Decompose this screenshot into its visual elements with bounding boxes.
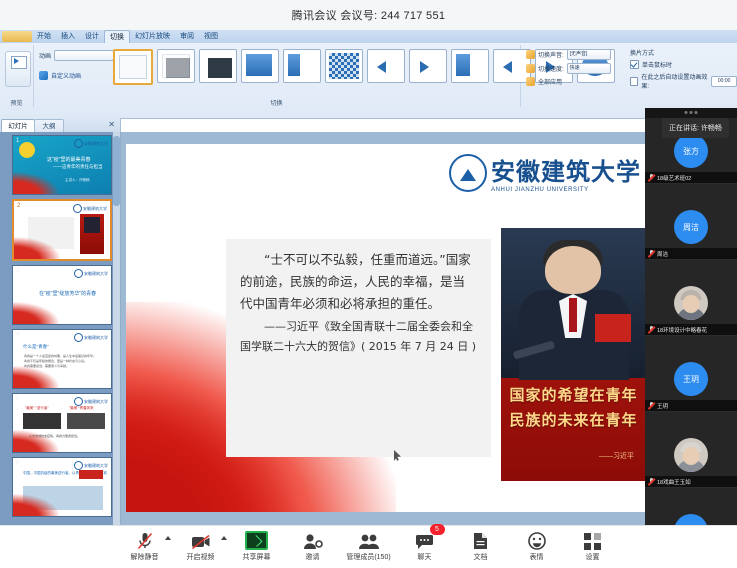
powerpoint-window: 开始 插入 设计 切换 幻灯片放映 审阅 视图 预览 动画 [0,30,737,525]
anim-dropdown-label: 动画 [39,51,51,60]
ribbon-tab-3[interactable]: 切换 [104,30,130,44]
advance-on-click-row[interactable]: 单击鼠标时 [630,60,737,69]
share-screen-icon [245,532,268,550]
ribbon-group-timing: 切换声音: [无声音] 切换速度: 快速 全部应用 换片方式 单击鼠标时 [520,45,737,107]
apply-all-button[interactable]: 全部应用 [526,77,562,86]
advance-on-click-checkbox[interactable] [630,60,639,69]
participant-name: 18级艺术班02 [657,174,691,182]
thumbnail-number: 3 [16,268,19,274]
emoji-icon [528,532,546,550]
toolbar-item-unmute[interactable]: 解除静音 [117,526,173,568]
transition-tile-dissolve[interactable] [325,49,363,83]
mic-off-icon [648,402,655,409]
advance-slide-title: 换片方式 [630,48,737,57]
participant-name-bar: 周洁 [645,248,737,259]
ribbon-tab-6[interactable]: 视图 [199,30,223,43]
transition-group-label: 切换 [33,98,520,107]
thumbnail-logo: 安徽建筑大学 [74,397,108,406]
avatar-initials: 周洁 [683,222,699,233]
transition-sound-row[interactable]: 切换声音: [无声音] [526,49,611,60]
video-menu-caret-icon[interactable] [221,536,227,540]
transition-tile-cut-left[interactable] [367,49,405,83]
avatar-initials: 张方 [683,146,699,157]
toolbar-item-emoji[interactable]: 表情 [509,526,565,568]
ribbon-tab-1[interactable]: 插入 [56,30,80,43]
thumbnail-logo: 安徽建筑大学 [74,333,108,342]
thumbnail-scrollbar-thumb[interactable] [113,136,120,206]
thumbnail-number: 6 [16,460,19,466]
transition-sound-label: 切换声音: [538,50,564,59]
invite-icon [303,532,323,550]
tab-outline[interactable]: 大纲 [34,119,64,133]
poster-photo [501,228,646,378]
ribbon-tab-strip: 开始 插入 设计 切换 幻灯片放映 审阅 视图 [0,30,737,43]
thumbnail-logo: 安徽建筑大学 [74,269,108,278]
transition-tile-cover-right[interactable] [409,49,447,83]
transition-speed-label: 切换速度: [538,64,564,73]
toolbar-item-invite[interactable]: 邀请 [285,526,341,568]
tab-slides[interactable]: 幻灯片 [1,119,35,133]
thumbnail-number: 5 [16,396,19,402]
poster-line-1: 国家的希望在青年 [501,383,646,408]
university-logo: 安徽建筑大学 ANHUI JIANZHU UNIVERSITY [449,152,641,193]
toolbar-item-share-screen[interactable]: 共享屏幕 [229,526,285,568]
video-panel-drag-handle[interactable] [645,108,737,118]
thumbnail-logo: 安徽建筑大学 [73,204,107,213]
advance-auto-time-input[interactable]: 00:00 [711,76,737,87]
settings-grid-icon [584,532,601,550]
close-pane-icon[interactable]: ✕ [108,120,115,129]
apply-all-label: 全部应用 [538,77,562,86]
poster-text-block: 国家的希望在青年 民族的未来在青年 ——习近平 [501,383,646,461]
custom-animation-button[interactable]: 自定义动画 [39,71,81,80]
toolbar-label: 邀请 [306,552,320,562]
mic-off-icon [137,532,153,550]
meeting-app-root: 腾讯会议 会议号: 244 717 551 开始 插入 设计 切换 幻灯片放映 … [0,0,737,567]
toolbar-item-start-video[interactable]: 开启视频 [173,526,229,568]
quick-access-toolbar[interactable] [2,31,32,42]
avatar-initials: 王玥 [683,374,699,385]
transition-sound-select[interactable]: [无声音] [567,49,611,60]
thumbnail-logo: 安徽建筑大学 [74,461,108,470]
advance-auto-label: 在此之后自动设置动画效果: [641,72,708,90]
thumbnail-slide-6[interactable]: 6 安徽建筑大学 中国，中国抗疫的最美逆行者，以青春之名，勇往直前 [12,457,112,517]
poster-signature: ——习近平 [501,451,646,461]
toolbar-item-manage-members[interactable]: 管理成员(150) [341,526,397,568]
participant-name: 18环境设计中略春花 [657,326,707,334]
advance-auto-row[interactable]: 在此之后自动设置动画效果: 00:00 [630,72,737,90]
poster-line-2: 民族的未来在青年 [501,408,646,433]
toolbar-label: 表情 [530,552,544,562]
slide-thumbnail-list[interactable]: 1 安徽建筑大学 这"疫"里的最美青春 ——这青年的责任与担当 主讲人：许畅畅 … [0,132,121,525]
transition-tile-none[interactable] [113,49,153,85]
transition-tile-uncover[interactable] [451,49,489,83]
toolbar-label: 文档 [474,552,488,562]
preview-group-label: 预览 [0,98,33,107]
ribbon-group-transition: 动画 自定义动画 [33,45,521,107]
transition-tile-push[interactable] [199,49,237,83]
speaking-tooltip: 正在讲话: 许畅畅 [662,118,729,138]
toolbar-item-chat[interactable]: 5 聊天 [397,526,453,568]
university-name-cn: 安徽建筑大学 [491,152,641,187]
thumbnail-logo: 安徽建筑大学 [74,139,108,148]
document-icon [473,532,488,550]
custom-animation-label: 自定义动画 [51,71,81,80]
transition-tile-wipe[interactable] [241,49,279,83]
transition-tile-fade[interactable] [157,49,195,83]
toolbar-label: 管理成员(150) [346,552,390,562]
preview-button[interactable] [5,51,31,87]
thumbnail-number: 1 [16,138,19,144]
transition-speed-row[interactable]: 切换速度: 快速 [526,63,611,74]
mic-menu-caret-icon[interactable] [165,536,171,540]
avatar: 张方 [674,134,708,168]
participant-name-bar: 18级艺术班02 [645,172,737,183]
current-slide[interactable]: 安徽建筑大学 ANHUI JIANZHU UNIVERSITY “士不可以不弘毅… [126,144,651,512]
quote-card: “士不可以不弘毅，任重而道远。”国家的前途，民族的命运，人民的幸福，是当代中国青… [226,239,491,457]
video-tile-3[interactable]: 王玥 王玥 [645,336,737,412]
avatar: 周洁 [674,210,708,244]
quote-text: “士不可以不弘毅，任重而道远。”国家的前途，民族的命运，人民的幸福，是当代中国青… [240,249,477,315]
advance-auto-checkbox[interactable] [630,77,638,86]
toolbar-item-settings[interactable]: 设置 [565,526,621,568]
toolbar-label: 解除静音 [131,552,159,562]
video-tile-4[interactable]: 18戏曲王玉如 [645,412,737,488]
ribbon-tab-0[interactable]: 开始 [32,30,56,43]
drag-dots-icon [685,111,698,114]
thumbnail-scrollbar[interactable] [113,132,120,525]
meeting-toolbar: 解除静音 开启视频 共享屏幕 邀请 管理成员(150) [0,525,737,568]
video-tile-2[interactable]: 18环境设计中略春花 [645,260,737,336]
thumbnail-slide-5[interactable]: 5 安徽建筑大学 "最美"·"逆行者" "最美"·青春风采 众志成城抗击疫情，青… [12,393,112,453]
poster-image: 国家的希望在青年 民族的未来在青年 ——习近平 [501,228,646,481]
mic-off-icon [648,250,655,257]
participant-name-bar: 18戏曲王玉如 [645,476,737,487]
participant-name-bar: 王玥 [645,400,737,411]
custom-animation-icon [39,71,48,80]
toolbar-item-document[interactable]: 文档 [453,526,509,568]
participant-name: 周洁 [657,250,668,258]
ribbon-tab-4[interactable]: 幻灯片放映 [130,30,175,43]
participant-name: 王玥 [657,402,668,410]
mic-off-icon [648,326,655,333]
chat-icon [415,532,435,550]
university-name-en: ANHUI JIANZHU UNIVERSITY [491,187,641,193]
avatar: 王玥 [674,362,708,396]
anim-dropdown-combo[interactable] [54,50,114,61]
members-icon [358,532,380,550]
ribbon-tab-5[interactable]: 审阅 [175,30,199,43]
advance-slide-column: 换片方式 单击鼠标时 在此之后自动设置动画效果: 00:00 [630,48,737,90]
ribbon-body: 预览 动画 自定义动画 [0,43,737,119]
video-off-icon [191,532,211,550]
chat-unread-badge: 5 [430,524,445,535]
meeting-title-bar: 腾讯会议 会议号: 244 717 551 [0,0,737,30]
transition-speed-select[interactable]: 快速 [567,63,611,74]
university-seal-icon [449,154,487,192]
anim-dropdown-row[interactable]: 动画 [39,50,114,61]
thumbnail-number: 2 [17,203,20,209]
toolbar-label: 聊天 [418,552,432,562]
advance-on-click-label: 单击鼠标时 [642,60,672,69]
avatar [674,438,708,472]
participant-name: 18戏曲王玉如 [657,478,691,486]
quote-source: ——习近平《致全国青联十二届全委会和全国学联二十六大的贺信》( 2015 年 7… [240,317,477,357]
slide-pane-tabs: 幻灯片 大纲 ✕ [0,118,121,132]
play-triangle-icon [14,58,19,64]
thumbnail-slide-2[interactable]: 2 安徽建筑大学 [12,199,112,261]
speed-icon [526,64,535,73]
ribbon-tab-2[interactable]: 设计 [80,30,104,43]
ribbon-group-preview: 预览 [0,45,34,107]
transition-tile-split[interactable] [283,49,321,83]
mic-off-icon [648,174,655,181]
apply-all-icon [526,77,535,86]
thumbnail-slide-4[interactable]: 4 安徽建筑大学 什么是"青春" ·青春是一个人最宝贵的时期，是人生中最美好的年… [12,329,112,389]
video-tile-1[interactable]: 周洁 周洁 [645,184,737,260]
toolbar-label: 设置 [586,552,600,562]
thumbnail-slide-3[interactable]: 3 安徽建筑大学 在"疫"里"绽放芳华"的青春 [12,265,112,325]
thumbnail-number: 4 [16,332,19,338]
toolbar-label: 共享屏幕 [243,552,271,562]
meeting-title-text: 腾讯会议 会议号: 244 717 551 [292,7,446,23]
toolbar-label: 开启视频 [187,552,215,562]
mic-off-icon [648,478,655,485]
avatar [674,286,708,320]
thumbnail-slide-1[interactable]: 1 安徽建筑大学 这"疫"里的最美青春 ——这青年的责任与担当 主讲人：许畅畅 [12,135,112,195]
sound-icon [526,50,535,59]
participant-video-panel[interactable]: 张方 18级艺术班02 周洁 周洁 18环境设计中略春花 王玥 [645,108,737,528]
participant-name-bar: 18环境设计中略春花 [645,324,737,335]
